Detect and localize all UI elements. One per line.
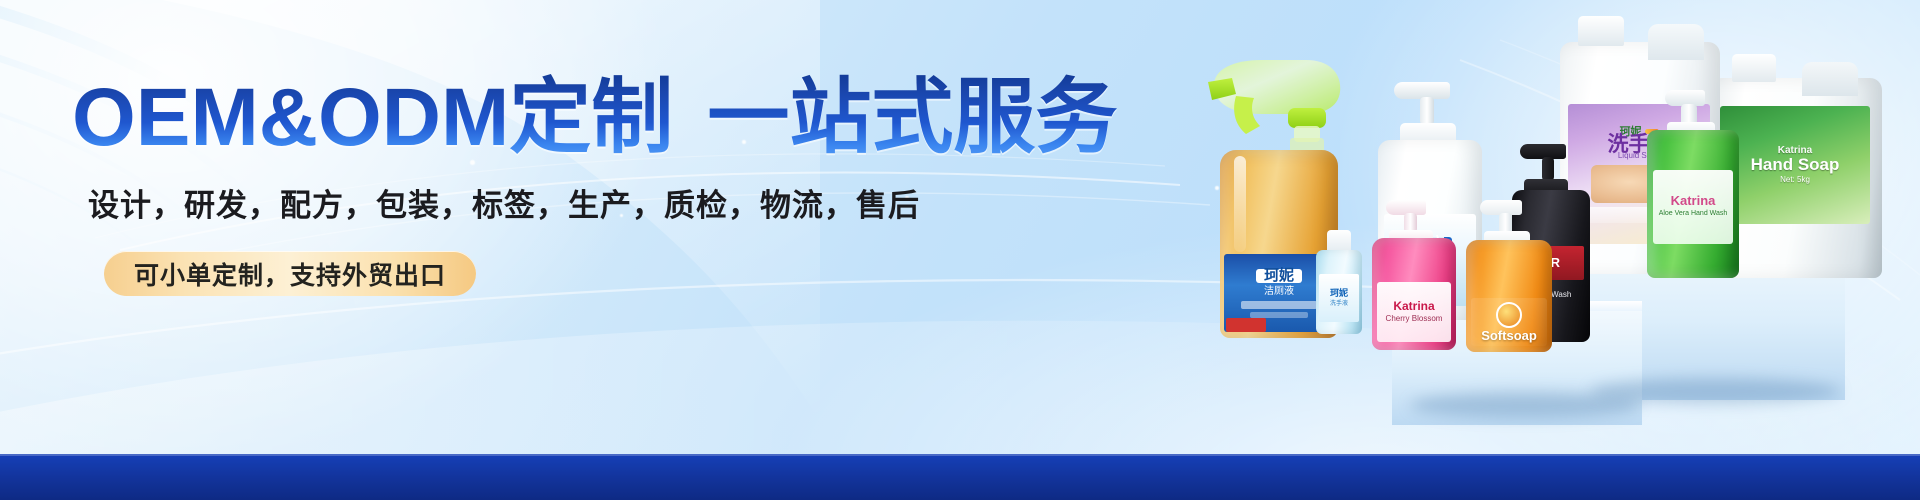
green-aloe-label: Katrina Aloe Vera Hand Wash	[1653, 170, 1733, 244]
product-shadow	[1590, 378, 1840, 404]
green-jerrycan-title: Hand Soap	[1751, 159, 1840, 171]
product-blue-small-bottle: 珂妮 洗手液	[1316, 250, 1362, 334]
order-badge-label: 可小单定制，支持外贸出口	[134, 256, 446, 292]
product-pink-pump-bottle: Katrina Cherry Blossom	[1372, 238, 1456, 350]
green-jerrycan-net: Net: 5kg	[1780, 175, 1810, 185]
green-jerrycan-brand: Katrina	[1778, 145, 1812, 157]
jerrycan-cap	[1732, 54, 1776, 82]
green-aloe-brand: Katrina	[1671, 195, 1716, 207]
product-orange-pump-bottle: Softsoap	[1466, 240, 1552, 352]
headline: OEM&ODM定制一站式服务	[72, 72, 1117, 164]
pump-neck	[1420, 97, 1434, 125]
blue-small-label: 珂妮 洗手液	[1319, 274, 1359, 322]
headline-part-1: OEM&ODM定制	[72, 72, 673, 163]
headline-part-2: 一站式服务	[707, 72, 1117, 163]
order-badge: 可小单定制，支持外贸出口	[104, 251, 476, 296]
service-list-text: 设计，研发，配方，包装，标签，生产，质检，物流，售后	[88, 186, 920, 226]
blue-small-brand: 珂妮	[1330, 287, 1348, 299]
trigger-spray-brand: 珂妮	[1256, 269, 1302, 283]
blue-small-sub: 洗手液	[1330, 299, 1348, 309]
promo-banner: OEM&ODM定制一站式服务 设计，研发，配方，包装，标签，生产，质检，物流，售…	[0, 0, 1920, 500]
product-green-aloe-bottle: Katrina Aloe Vera Hand Wash	[1647, 130, 1739, 278]
banner-copy: OEM&ODM定制一站式服务 设计，研发，配方，包装，标签，生产，质检，物流，售…	[0, 0, 1060, 440]
orange-pump-label: Softsoap	[1471, 298, 1547, 346]
trigger-sprayer-head	[1202, 52, 1354, 160]
bottom-bar-highlight	[0, 454, 1920, 456]
green-jerrycan-label: Katrina Hand Soap Net: 5kg	[1720, 106, 1870, 224]
orange-pump-brand: Softsoap	[1481, 330, 1537, 342]
product-showcase: Katrina Hand Soap Net: 5kg 珂妮 洗手液 Liquid…	[1160, 0, 1920, 455]
jerrycan-cap	[1578, 16, 1624, 46]
bottom-bar	[0, 454, 1920, 500]
pink-pump-sub: Cherry Blossom	[1386, 314, 1443, 324]
trigger-spray-sub: 洁厕液	[1264, 287, 1294, 297]
flip-cap	[1327, 230, 1351, 252]
green-aloe-sub: Aloe Vera Hand Wash	[1659, 209, 1728, 219]
pink-pump-label: Katrina Cherry Blossom	[1377, 282, 1451, 342]
pump-neck	[1542, 157, 1554, 181]
pink-pump-brand: Katrina	[1393, 300, 1434, 312]
